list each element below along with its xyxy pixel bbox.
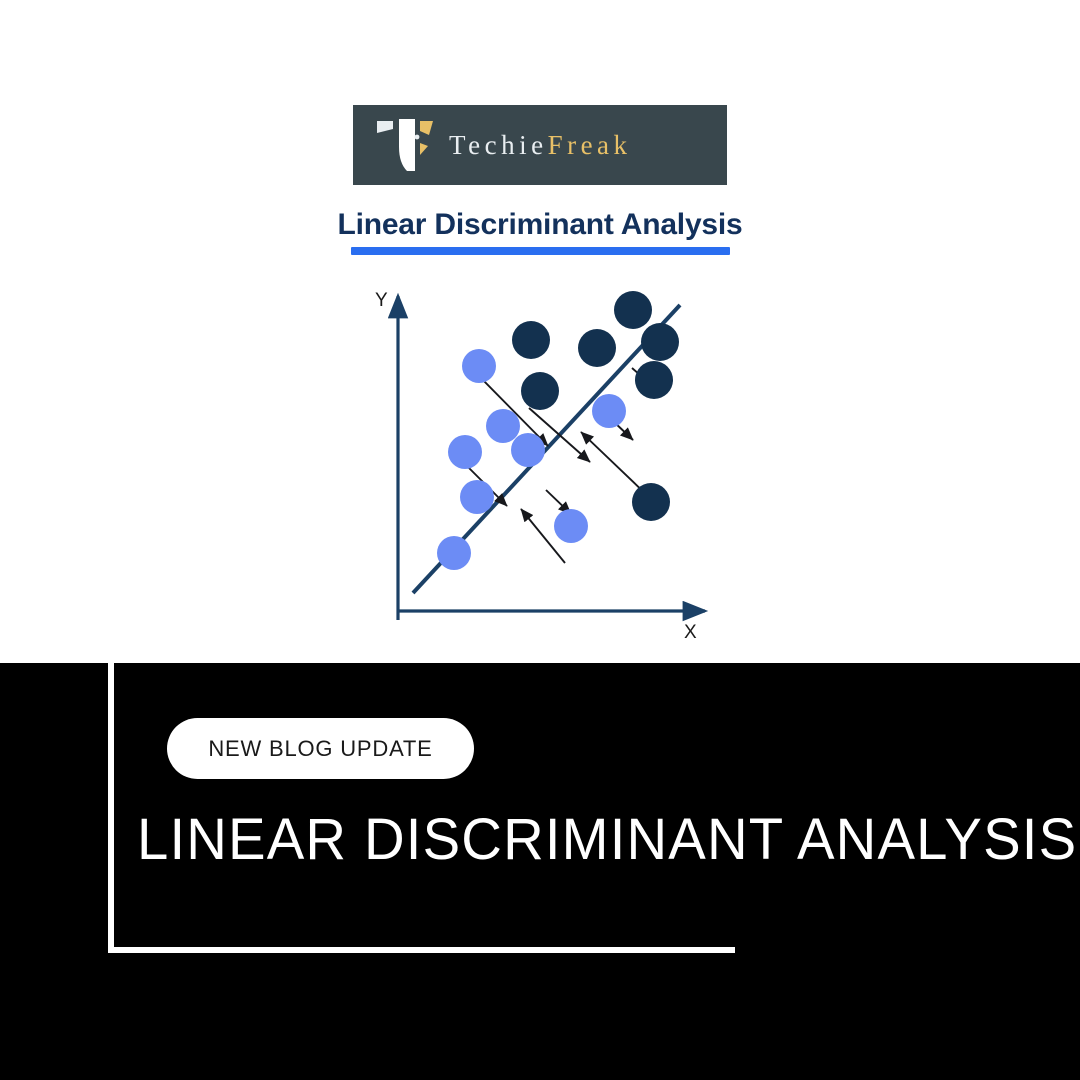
scatter-point <box>554 509 588 543</box>
brand-wordmark-part2: Freak <box>548 130 632 161</box>
techiefreak-t-mark-icon <box>371 113 447 177</box>
scatter-point <box>486 409 520 443</box>
scatter-point <box>578 329 616 367</box>
scatter-point <box>462 349 496 383</box>
scatter-point <box>437 536 471 570</box>
x-axis-label: X <box>684 622 697 643</box>
promo-frame-left-border <box>108 663 114 953</box>
scatter-point <box>632 483 670 521</box>
brand-logo-banner: TechieFreak <box>353 105 727 185</box>
scatter-point <box>512 321 550 359</box>
scatter-point <box>448 435 482 469</box>
page-title: Linear Discriminant Analysis <box>0 208 1080 242</box>
top-white-panel: TechieFreak Linear Discriminant Analysis… <box>0 0 1080 663</box>
scatter-point <box>635 361 673 399</box>
promo-headline: LINEAR DISCRIMINANT ANALYSIS <box>137 806 971 873</box>
brand-wordmark: TechieFreak <box>449 130 632 161</box>
brand-wordmark-part1: Techie <box>449 130 548 161</box>
scatter-point <box>521 372 559 410</box>
scatter-point <box>511 433 545 467</box>
new-blog-update-badge[interactable]: NEW BLOG UPDATE <box>167 718 474 779</box>
y-axis-label: Y <box>375 290 388 311</box>
scatter-point <box>460 480 494 514</box>
badge-label: NEW BLOG UPDATE <box>208 736 432 762</box>
scatter-point <box>641 323 679 361</box>
lda-scatter-figure: Y X <box>355 280 735 645</box>
promo-frame-bottom-border <box>108 947 735 953</box>
title-underline-rule <box>351 247 730 255</box>
scatter-point <box>592 394 626 428</box>
scatter-point <box>614 291 652 329</box>
